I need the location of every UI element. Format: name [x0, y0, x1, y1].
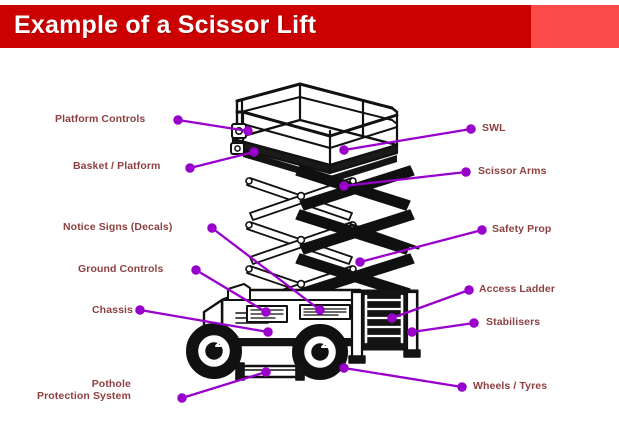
callout-notice-signs[interactable]: Notice Signs (Decals) — [63, 221, 172, 233]
callout-access-ladder[interactable]: Access Ladder — [479, 283, 555, 295]
callout-pothole-line-1: Pothole — [37, 378, 131, 390]
slide-canvas: Example of a Scissor Lift — [0, 0, 619, 434]
callout-wheels-tyres[interactable]: Wheels / Tyres — [473, 380, 547, 392]
callout-scissor-arms[interactable]: Scissor Arms — [478, 165, 547, 177]
pothole-protection-system — [236, 363, 304, 380]
callout-platform-controls[interactable]: Platform Controls — [55, 113, 145, 125]
callout-swl[interactable]: SWL — [482, 122, 506, 134]
callout-ground-controls[interactable]: Ground Controls — [78, 263, 164, 275]
platform-guardrail — [233, 84, 397, 183]
callout-stabilisers[interactable]: Stabilisers — [486, 316, 540, 328]
callout-pothole-line-2: Protection System — [37, 390, 131, 402]
callout-pothole-protection-system[interactable]: Pothole Protection System — [37, 378, 131, 402]
callout-chassis[interactable]: Chassis — [92, 304, 133, 316]
scissor-lift-illustration — [0, 0, 619, 434]
callout-basket-platform[interactable]: Basket / Platform — [73, 160, 160, 172]
callout-safety-prop[interactable]: Safety Prop — [492, 223, 551, 235]
